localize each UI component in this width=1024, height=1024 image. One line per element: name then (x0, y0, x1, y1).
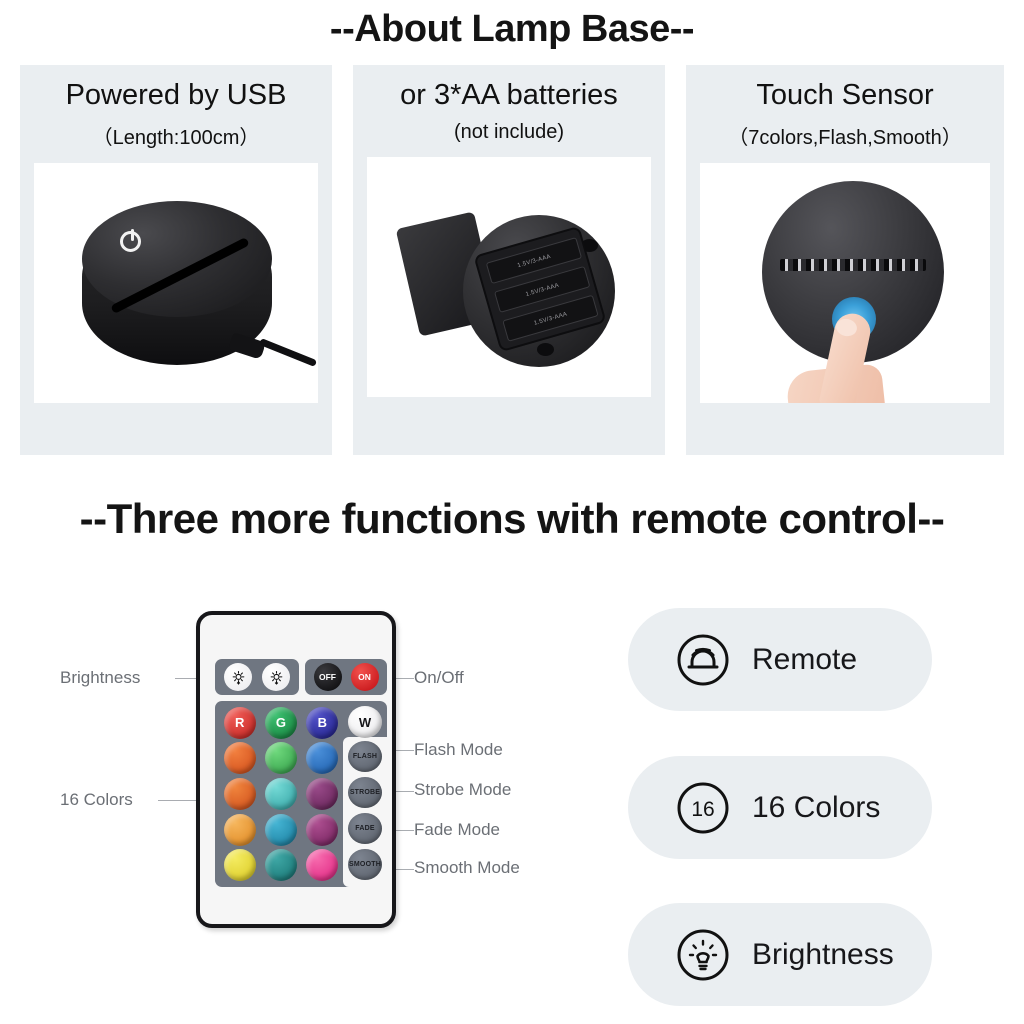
feature-panel-usb: Powered by USB （Length:100cm） (20, 65, 332, 455)
callout-brightness: Brightness (60, 668, 140, 688)
color-button-orange-2[interactable] (224, 778, 256, 810)
color-button-teal-2[interactable] (265, 849, 297, 881)
remote-top-row: OFF ON (215, 659, 387, 695)
remote-right-column: W FLASH STROBE FADE SMOOTH (343, 701, 387, 887)
remote-signal-icon (676, 633, 730, 687)
brightness-button-group (215, 659, 299, 695)
panel-title: or 3*AA batteries (400, 77, 618, 113)
panel-title: Powered by USB (66, 77, 287, 113)
color-button-blue-1[interactable] (306, 742, 338, 774)
panel-title: Touch Sensor (756, 77, 933, 113)
feature-panel-batteries: or 3*AA batteries (not include) 1.5V/3-A… (353, 65, 665, 455)
sun-up-icon (231, 670, 246, 685)
usb-plug-icon (228, 332, 266, 360)
color-button-green-1[interactable] (265, 742, 297, 774)
battery-base-illustration: 1.5V/3-AAA 1.5V/3-AAA 1.5V/3-AAA (367, 157, 651, 397)
color-button-purple-1[interactable] (306, 778, 338, 810)
feature-panel-touch-sensor: Touch Sensor （7colors,Flash,Smooth） (686, 65, 1004, 455)
remote-section-title: --Three more functions with remote contr… (0, 495, 1024, 543)
led-strip-shape (780, 259, 926, 271)
color-button-teal-1[interactable] (265, 814, 297, 846)
color-button-pink[interactable] (306, 849, 338, 881)
sun-down-icon (269, 670, 284, 685)
bulb-icon (676, 928, 730, 982)
callout-strobe-mode: Strobe Mode (414, 780, 511, 800)
color-button-grid: R G B (219, 705, 343, 883)
base-top-shape (82, 201, 272, 317)
rubber-foot (537, 343, 554, 356)
color-button-b[interactable]: B (306, 707, 338, 739)
remote-keypad: R G B W FLAS (215, 701, 387, 887)
lamp-base-touch-photo (700, 163, 990, 403)
page-root: --About Lamp Base-- Powered by USB （Leng… (0, 0, 1024, 1024)
pill-label: Brightness (752, 938, 894, 972)
touch-base-illustration (700, 163, 990, 403)
feature-pill-remote[interactable]: Remote (628, 608, 932, 711)
remote-control[interactable]: OFF ON R G B (196, 611, 396, 928)
panel-subtitle: （Length:100cm） (93, 121, 260, 150)
pill-label: 16 Colors (752, 791, 880, 825)
callout-flash-mode: Flash Mode (414, 740, 503, 760)
color-button-amber[interactable] (224, 814, 256, 846)
pill-label: Remote (752, 643, 857, 677)
power-button-group: OFF ON (305, 659, 387, 695)
callout-on-off: On/Off (414, 668, 464, 688)
brightness-down-button[interactable] (262, 663, 290, 691)
callout-fade-mode: Fade Mode (414, 820, 500, 840)
usb-cable-shape (259, 338, 317, 367)
feature-pill-brightness[interactable]: Brightness (628, 903, 932, 1006)
white-button-wrap: W (348, 706, 382, 738)
color-button-w[interactable]: W (348, 706, 382, 738)
flash-mode-button[interactable]: FLASH (348, 741, 382, 772)
sixteen-circle-icon: 16 (676, 781, 730, 835)
usb-base-illustration (34, 163, 318, 403)
on-button[interactable]: ON (351, 663, 379, 691)
callout-16-colors: 16 Colors (60, 790, 133, 810)
brightness-up-button[interactable] (224, 663, 252, 691)
color-button-r[interactable]: R (224, 707, 256, 739)
color-button-yellow[interactable] (224, 849, 256, 881)
color-button-g[interactable]: G (265, 707, 297, 739)
panel-subtitle: （7colors,Flash,Smooth） (728, 121, 961, 150)
panel-subtitle: (not include) (454, 121, 564, 144)
lamp-base-battery-photo: 1.5V/3-AAA 1.5V/3-AAA 1.5V/3-AAA (367, 157, 651, 397)
color-button-purple-2[interactable] (306, 814, 338, 846)
off-button[interactable]: OFF (314, 663, 342, 691)
lamp-base-usb-photo (34, 163, 318, 403)
page-title: --About Lamp Base-- (0, 8, 1024, 51)
smooth-mode-button[interactable]: SMOOTH (348, 849, 382, 880)
svg-text:16: 16 (691, 798, 714, 821)
color-button-cyan-1[interactable] (265, 778, 297, 810)
feature-pill-16-colors[interactable]: 16 16 Colors (628, 756, 932, 859)
callout-smooth-mode: Smooth Mode (414, 858, 520, 878)
color-button-orange-1[interactable] (224, 742, 256, 774)
strobe-mode-button[interactable]: STROBE (348, 777, 382, 808)
fade-mode-button[interactable]: FADE (348, 813, 382, 844)
